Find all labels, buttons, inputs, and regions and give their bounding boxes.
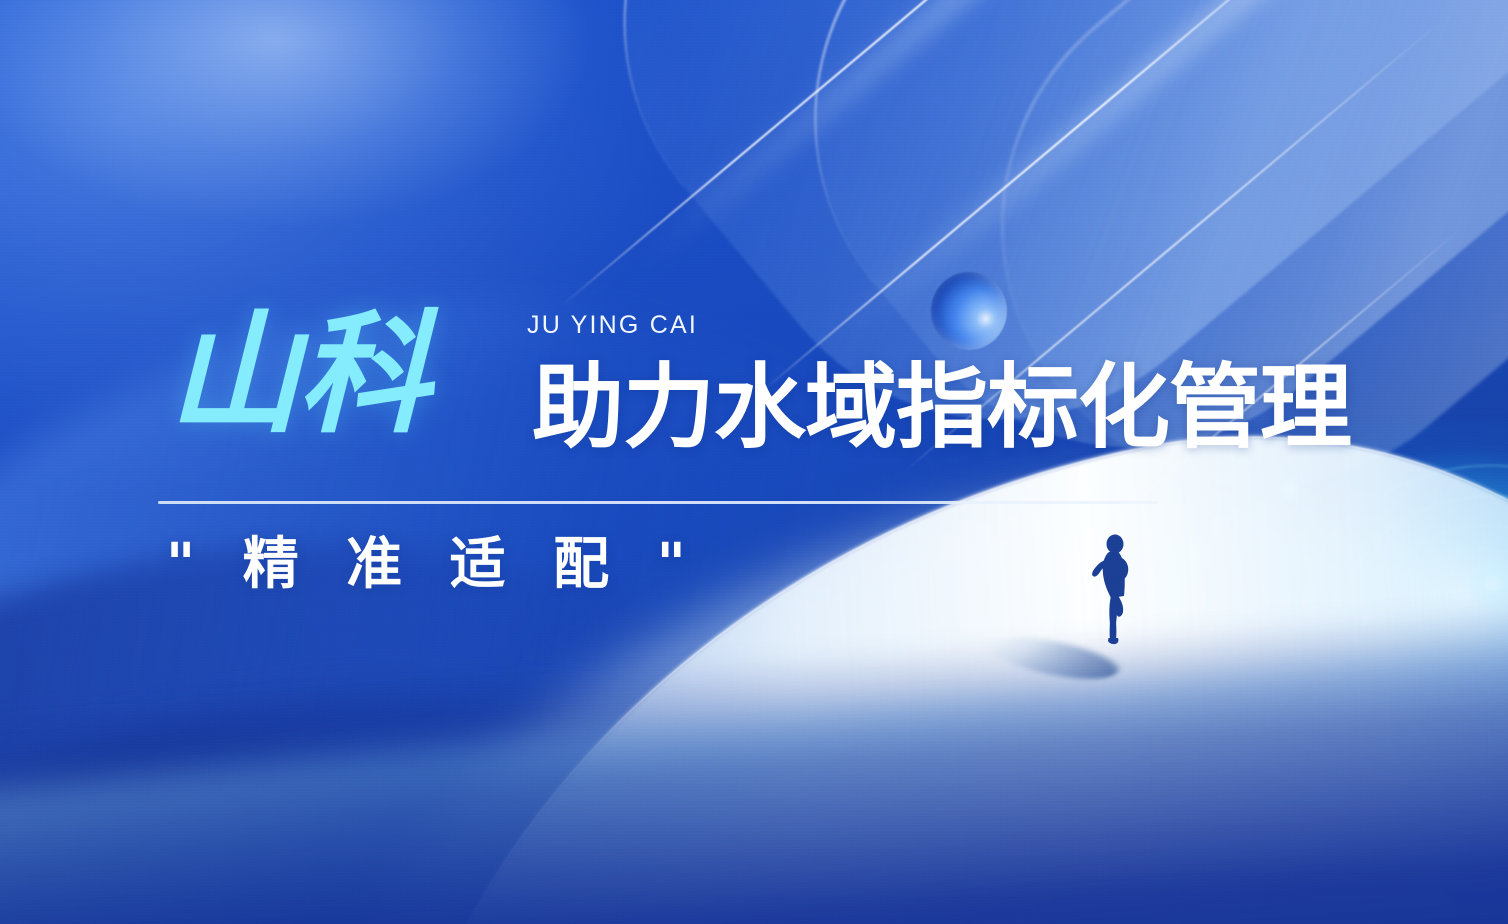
promo-banner: 山科 JU YING CAI 助力水域指标化管理 " 精 准 适 配 " bbox=[0, 0, 1508, 924]
brand-logo-text: 山科 bbox=[168, 309, 428, 441]
banner-tagline: " 精 准 适 配 " bbox=[166, 536, 700, 595]
headline-divider bbox=[158, 501, 1158, 504]
banner-headline: 助力水域指标化管理 bbox=[532, 362, 1351, 454]
banner-content: 山科 JU YING CAI 助力水域指标化管理 " 精 准 适 配 " bbox=[0, 0, 1508, 924]
brand-pinyin-text: JU YING CAI bbox=[527, 311, 698, 340]
